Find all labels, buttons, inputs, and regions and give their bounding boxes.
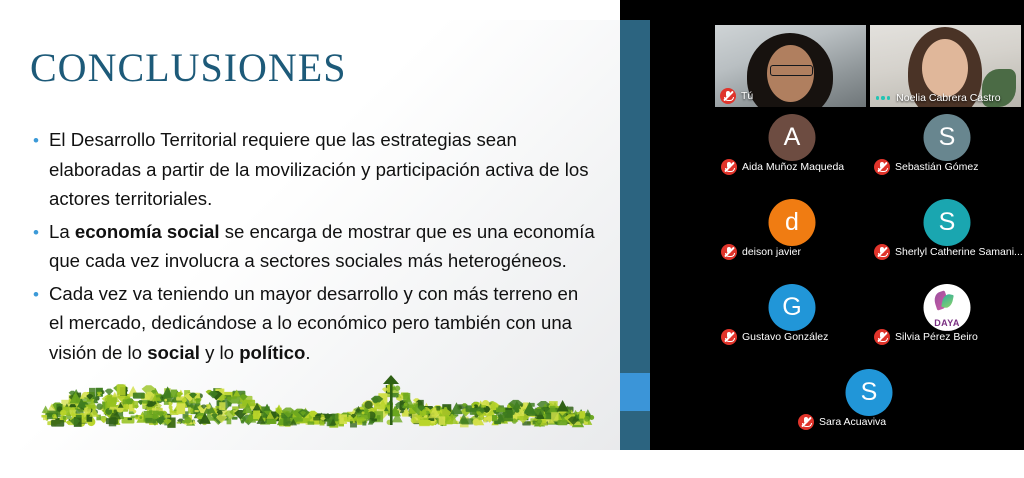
mic-muted-icon[interactable] bbox=[721, 329, 737, 345]
mic-muted-icon[interactable] bbox=[720, 88, 736, 104]
avatar: A bbox=[769, 114, 816, 161]
avatar: G bbox=[769, 284, 816, 331]
participant-row: GGustavo GonzálezDAYACENTRO TERAPIASSilv… bbox=[715, 280, 1024, 365]
participant-cell[interactable]: GGustavo González bbox=[715, 280, 869, 365]
mic-muted-icon[interactable] bbox=[798, 414, 814, 430]
bullet-emphasis: social bbox=[147, 342, 200, 363]
participant-name: Tú bbox=[741, 90, 753, 102]
video-tile-self[interactable]: Tú bbox=[715, 25, 866, 107]
video-tile-noelia[interactable]: Noelia Cabrera Castro bbox=[870, 25, 1021, 107]
avatar: S bbox=[924, 199, 971, 246]
mic-muted-icon[interactable] bbox=[874, 244, 890, 260]
participant-name: Noelia Cabrera Castro bbox=[896, 92, 1000, 104]
participant-cell[interactable]: AAida Muñoz Maqueda bbox=[715, 110, 869, 195]
participant-name: Sebastián Gómez bbox=[895, 161, 978, 173]
bullet-text: . bbox=[305, 342, 310, 363]
tile-name-bar: Noelia Cabrera Castro bbox=[870, 92, 1001, 104]
participant-cell[interactable]: SSara Acuaviva bbox=[792, 365, 946, 450]
participant-name-bar: Aida Muñoz Maqueda bbox=[715, 159, 875, 175]
tile-name-bar: Tú bbox=[715, 88, 753, 104]
participant-row: ddeison javierSSherlyl Catherine Samani.… bbox=[715, 195, 1024, 280]
participant-name-bar: Silvia Pérez Beiro bbox=[870, 329, 1024, 345]
bullet-text: La bbox=[49, 221, 75, 242]
participant-name: Gustavo González bbox=[742, 331, 828, 343]
participant-name-bar: Gustavo González bbox=[715, 329, 875, 345]
participant-cell[interactable]: SSebastián Gómez bbox=[870, 110, 1024, 195]
glasses-icon bbox=[770, 65, 813, 76]
bullet-marker-icon: • bbox=[33, 126, 39, 155]
page-title: CONCLUSIONES bbox=[30, 46, 346, 90]
bullet-marker-icon: • bbox=[33, 280, 39, 309]
participant-row: SSara Acuaviva bbox=[715, 365, 1024, 450]
participant-cell[interactable]: ddeison javier bbox=[715, 195, 869, 280]
scrollbar-thumb[interactable] bbox=[620, 373, 650, 411]
participant-name: Sara Acuaviva bbox=[819, 416, 886, 428]
participant-name-bar: deison javier bbox=[715, 244, 875, 260]
participant-name-bar: Sherlyl Catherine Samani... bbox=[870, 244, 1024, 260]
participant-name-bar: Sara Acuaviva bbox=[792, 414, 952, 430]
bullet-text: El Desarrollo Territorial requiere que l… bbox=[49, 129, 589, 209]
video-tile-row: Tú Noelia Cabrera Castro bbox=[715, 25, 1024, 107]
avatar bbox=[922, 39, 968, 97]
speaking-indicator-icon bbox=[875, 96, 891, 99]
participant-name-bar: Sebastián Gómez bbox=[870, 159, 1024, 175]
participant-name: deison javier bbox=[742, 246, 801, 258]
avatar: S bbox=[924, 114, 971, 161]
mic-muted-icon[interactable] bbox=[721, 244, 737, 260]
screen-capture: CONCLUSIONES •El Desarrollo Territorial … bbox=[0, 0, 1024, 478]
participant-name: Sherlyl Catherine Samani... bbox=[895, 246, 1023, 258]
mic-muted-icon[interactable] bbox=[874, 159, 890, 175]
bullet-list: •El Desarrollo Territorial requiere que … bbox=[30, 125, 595, 370]
participant-cell[interactable]: DAYACENTRO TERAPIASSilvia Pérez Beiro bbox=[870, 280, 1024, 365]
bullet-text: y lo bbox=[200, 342, 239, 363]
video-conference-panel: Tú Noelia Cabrera Castro AAida Muñoz Maq… bbox=[620, 0, 1024, 450]
participant-row: AAida Muñoz MaquedaSSebastián Gómez bbox=[715, 110, 1024, 195]
bullet-marker-icon: • bbox=[33, 218, 39, 247]
avatar: S bbox=[846, 369, 893, 416]
bullet-item: •Cada vez va teniendo un mayor desarroll… bbox=[30, 279, 595, 368]
bullet-emphasis: político bbox=[239, 342, 305, 363]
participant-cell[interactable]: SSherlyl Catherine Samani... bbox=[870, 195, 1024, 280]
presentation-slide: CONCLUSIONES •El Desarrollo Territorial … bbox=[0, 20, 620, 450]
bullet-emphasis: economía social bbox=[75, 221, 220, 242]
green-eco-icons-decoration bbox=[38, 375, 598, 435]
bullet-item: •La economía social se encarga de mostra… bbox=[30, 217, 595, 276]
participant-grid: Tú Noelia Cabrera Castro AAida Muñoz Maq… bbox=[715, 25, 1024, 450]
bullet-item: •El Desarrollo Territorial requiere que … bbox=[30, 125, 595, 214]
participant-name: Aida Muñoz Maqueda bbox=[742, 161, 844, 173]
avatar: d bbox=[769, 199, 816, 246]
bullet-text: Cada vez va teniendo un mayor desarrollo… bbox=[49, 283, 578, 363]
mic-muted-icon[interactable] bbox=[721, 159, 737, 175]
participant-name: Silvia Pérez Beiro bbox=[895, 331, 978, 343]
mic-muted-icon[interactable] bbox=[874, 329, 890, 345]
panel-scrollbar[interactable] bbox=[620, 20, 650, 450]
avatar: DAYACENTRO TERAPIAS bbox=[924, 284, 971, 331]
